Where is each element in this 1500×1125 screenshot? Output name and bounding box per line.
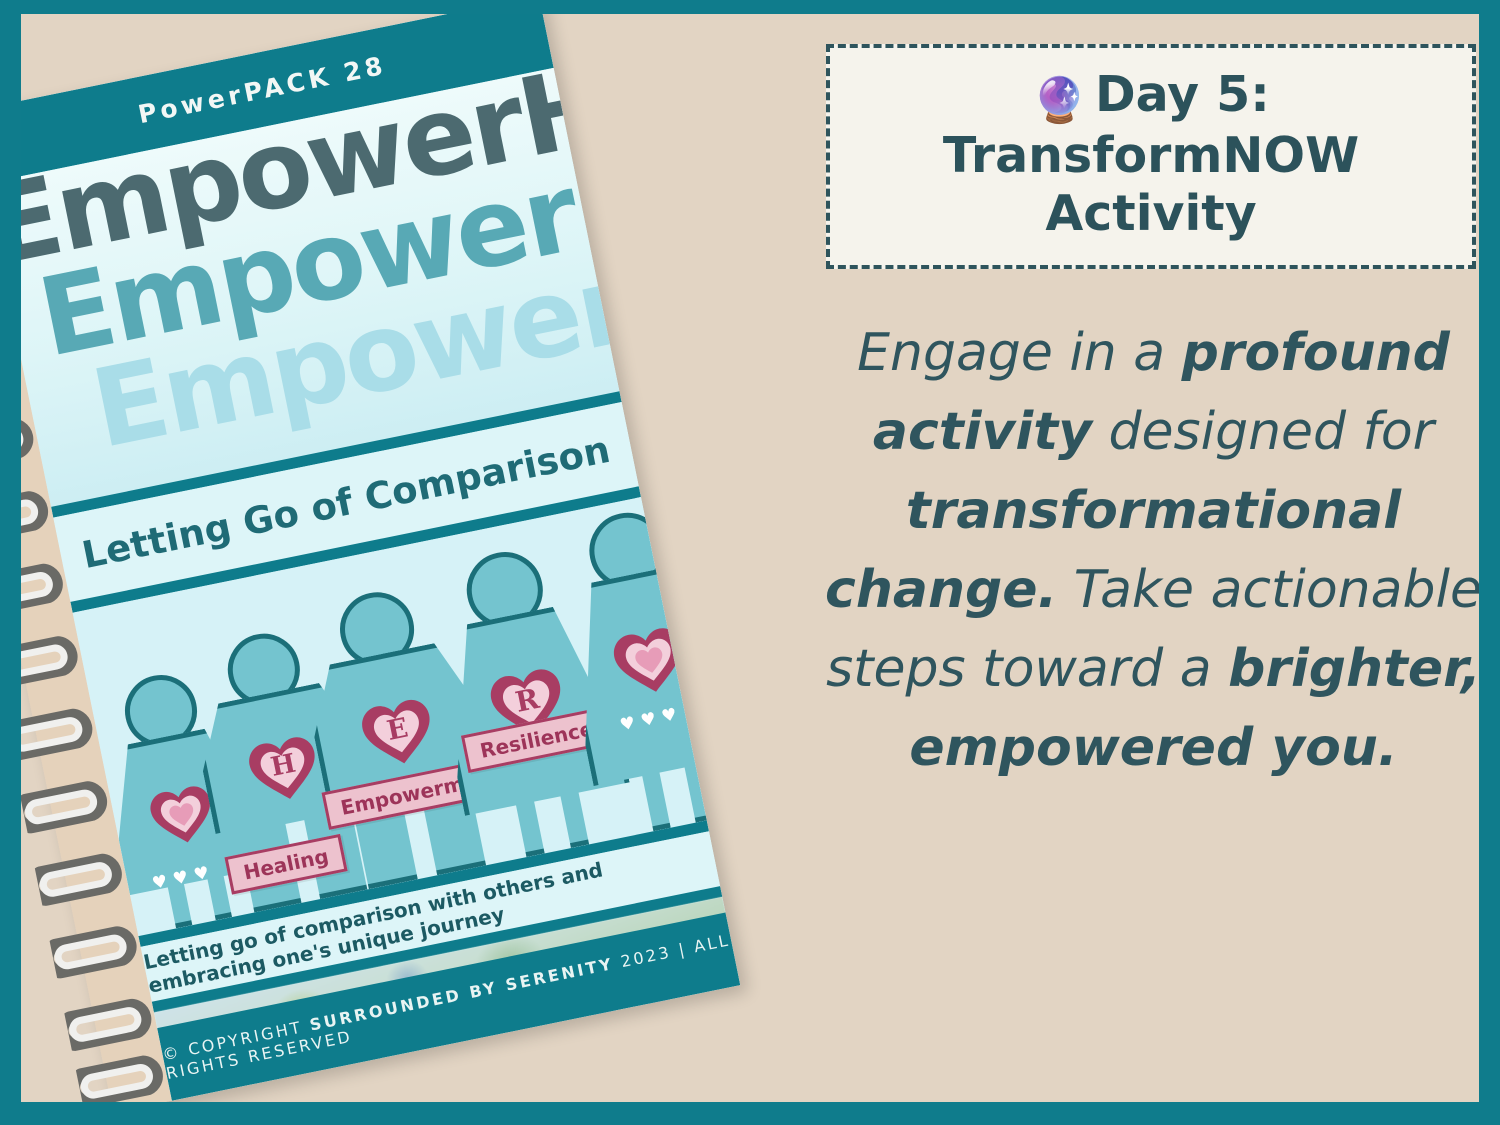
hem-dot: ♥ — [192, 865, 210, 885]
desc-seg-1: Engage in a — [857, 323, 1182, 383]
hem-dot: ♥ — [619, 715, 637, 735]
figure-5-heart — [607, 620, 693, 701]
activity-description: Engage in a profound activity designed f… — [821, 314, 1479, 788]
day-heading-box: 🔮Day 5: TransformNOW Activity — [826, 44, 1476, 269]
figure-3-heart: E — [355, 692, 441, 773]
hem-dot: ♥ — [151, 873, 169, 893]
hem-dot: ♥ — [660, 706, 678, 726]
workbook-illustration: PowerPACK 28 EmpowerHER EmpowerHER Empow… — [21, 14, 681, 1102]
slide-root: PowerPACK 28 EmpowerHER EmpowerHER Empow… — [0, 0, 1500, 1125]
day-heading-line-2: TransformNOW Activity — [840, 127, 1462, 243]
copyright-year: 2023 — [612, 942, 673, 972]
beige-canvas: PowerPACK 28 EmpowerHER EmpowerHER Empow… — [21, 14, 1479, 1102]
day-heading-line-1: 🔮Day 5: — [840, 66, 1462, 127]
hem-dot: ♥ — [172, 869, 190, 889]
desc-seg-3: designed for — [1092, 402, 1434, 462]
day-label: Day 5: — [1095, 66, 1270, 123]
workbook-cover: PowerPACK 28 EmpowerHER EmpowerHER Empow… — [21, 14, 740, 1102]
crystal-ball-icon: 🔮 — [1032, 75, 1087, 126]
figure-2-heart: H — [242, 729, 326, 808]
hem-dot: ♥ — [639, 711, 657, 731]
